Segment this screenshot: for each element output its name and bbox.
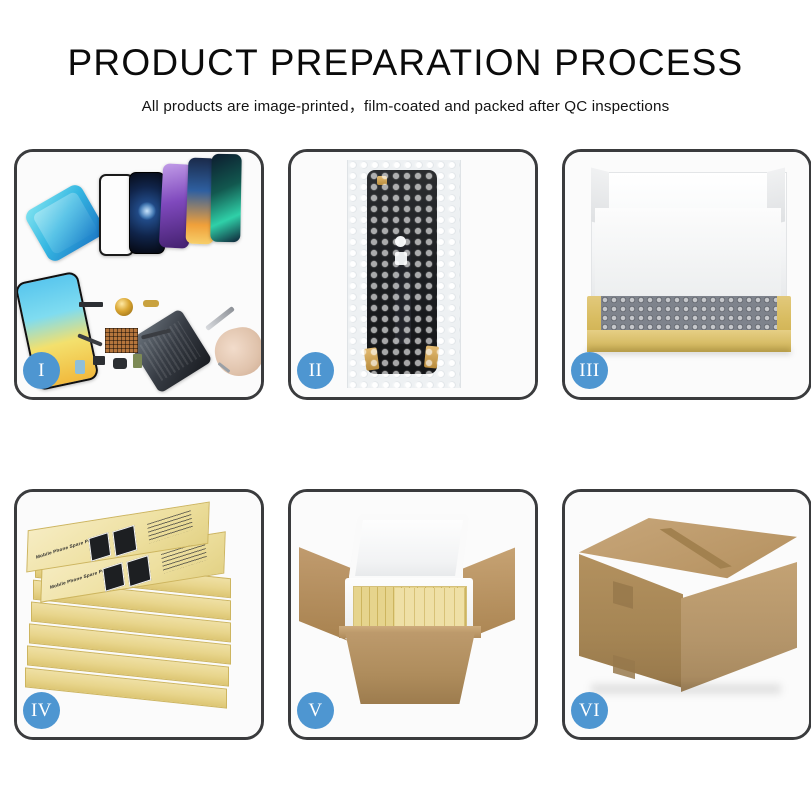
page-subtitle: All products are image-printed，film-coat… — [0, 83, 811, 116]
step-badge-4: IV — [23, 692, 60, 729]
box-shadow-icon — [587, 348, 791, 355]
technician-hand-icon — [211, 324, 261, 381]
process-step-panel-6[interactable]: VI — [562, 489, 811, 740]
logic-board-chip-icon — [105, 328, 138, 353]
retail-box-thumb-right-top — [112, 525, 137, 557]
process-step-panel-3[interactable]: III — [562, 149, 811, 400]
sim-tray-icon — [75, 360, 85, 374]
step-badge-5: V — [297, 692, 334, 729]
process-step-panel-5[interactable]: V — [288, 489, 538, 740]
speaker-coil-icon — [115, 298, 133, 316]
page-header: PRODUCT PREPARATION PROCESS All products… — [0, 0, 811, 116]
vibration-motor-icon — [113, 358, 127, 369]
process-step-panel-1[interactable]: I — [14, 149, 264, 400]
battery-connector-icon — [133, 354, 142, 368]
tweezers-icon — [205, 306, 235, 331]
page-title: PRODUCT PREPARATION PROCESS — [0, 0, 811, 83]
carton-body-icon — [345, 632, 475, 704]
camera-module-icon — [93, 356, 105, 365]
retail-box-spec-lines-top — [147, 510, 193, 543]
carton-right-face-icon — [681, 562, 797, 692]
retail-box-thumb-right-lower — [126, 555, 151, 587]
step-badge-3: III — [571, 352, 608, 389]
step-badge-6: VI — [571, 692, 608, 729]
gold-connector-part-icon — [143, 300, 159, 307]
bubble-wrap-overlay-icon — [347, 160, 459, 388]
step-badge-1: I — [23, 352, 60, 389]
phone-screen-green-icon — [210, 154, 242, 243]
carton-shadow-icon — [591, 684, 781, 694]
earpiece-part-icon — [79, 302, 103, 307]
bubble-wrapped-stack-icon — [601, 296, 777, 332]
foam-sheet-icon — [595, 208, 781, 298]
phone-screen-teal-icon — [23, 182, 107, 264]
phone-back-housing-icon — [127, 308, 212, 393]
retail-box-thumb-left-lower — [102, 562, 125, 592]
step-badge-2: II — [297, 352, 334, 389]
retail-box-thumb-left-top — [88, 532, 111, 562]
process-step-grid: I II III — [14, 149, 811, 749]
process-step-panel-2[interactable]: II — [288, 149, 538, 400]
styrofoam-lid-icon — [348, 514, 470, 582]
gold-boxes-row-second-icon — [395, 588, 465, 630]
process-step-panel-4[interactable]: Mobile Phone Spare Parts Mobile Phone Sp… — [14, 489, 264, 740]
